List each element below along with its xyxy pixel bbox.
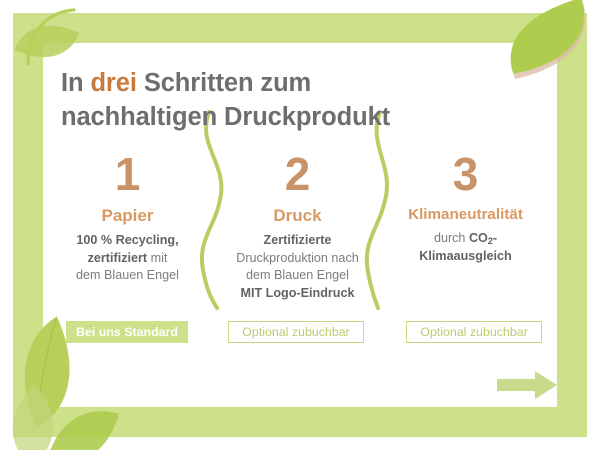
step1-desc-line3-regular: dem Blauen Engel: [76, 268, 179, 282]
badge-step-2[interactable]: Optional zubuchbar: [228, 321, 364, 343]
step1-desc-line2-bold: zertifiziert: [88, 251, 147, 265]
step3-desc-prefix: durch: [434, 231, 469, 245]
step-number-1: 1: [45, 151, 210, 199]
step-description-2: Zertifizierte Druckproduktion nach dem B…: [215, 232, 380, 304]
content-area: In drei Schritten zum nachhaltigen Druck…: [43, 43, 557, 407]
page-title: In drei Schritten zum nachhaltigen Druck…: [61, 66, 531, 135]
headline-accent-word: drei: [90, 69, 136, 97]
step3-desc-co2: CO2-: [469, 231, 497, 245]
step3-desc-line2-bold: Klimaausgleich: [419, 249, 511, 263]
step-title-3: Klimaneutralität: [383, 207, 548, 224]
step2-desc-line3-regular: dem Blauen Engel: [246, 268, 349, 282]
step-column-3: 3 Klimaneutralität durch CO2- Klimaausgl…: [383, 151, 548, 265]
badge-step-3[interactable]: Optional zubuchbar: [406, 321, 542, 343]
step3-co2-dash: -: [493, 231, 497, 245]
step1-desc-line1-bold: 100 % Recycling,: [76, 233, 178, 247]
forward-arrow-icon[interactable]: [497, 369, 559, 401]
step-column-2: 2 Druck Zertifizierte Druckproduktion na…: [215, 151, 380, 303]
step2-desc-line2-regular: Druckproduktion nach: [236, 251, 359, 265]
step-description-1: 100 % Recycling, zertifiziert mit dem Bl…: [45, 232, 210, 286]
headline-line1-post: Schritten zum: [137, 69, 311, 97]
step-number-2: 2: [215, 151, 380, 199]
step3-co2-text: CO: [469, 231, 488, 245]
step1-desc-line2-regular: mit: [147, 251, 167, 265]
headline-line2: nachhaltigen Druckprodukt: [61, 103, 390, 131]
step-column-1: 1 Papier 100 % Recycling, zertifiziert m…: [45, 151, 210, 285]
badges-row: Bei uns Standard Optional zubuchbar Opti…: [43, 321, 557, 345]
step2-desc-line1-bold: Zertifizierte: [264, 233, 332, 247]
step-description-3: durch CO2- Klimaausgleich: [383, 230, 548, 266]
step-title-1: Papier: [45, 207, 210, 226]
step3-co2-subscript: 2: [488, 236, 493, 246]
infographic-card: In drei Schritten zum nachhaltigen Druck…: [0, 0, 600, 450]
headline-line1-pre: In: [61, 69, 90, 97]
step-title-2: Druck: [215, 207, 380, 226]
badge-step-1[interactable]: Bei uns Standard: [66, 321, 188, 343]
step-number-3: 3: [383, 151, 548, 199]
step2-desc-line4-bold: MIT Logo-Eindruck: [240, 286, 354, 300]
